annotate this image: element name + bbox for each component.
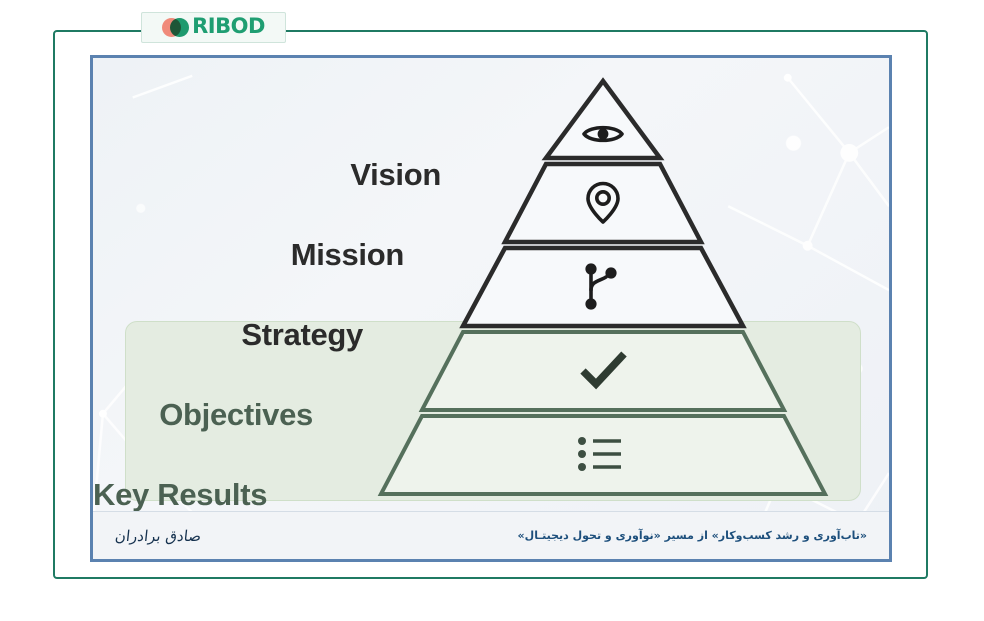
pyramid-label-vision: Vision [93,157,441,193]
slide-footer: صادق برادران «تاب‌آوری و رشد کسب‌وکار» ا… [93,511,889,559]
pyramid-label-strategy: Strategy [93,317,363,353]
pyramid-label-objectives: Objectives [93,397,313,433]
footer-tagline: «تاب‌آوری و رشد کسب‌وکار» از مسیر «نوآور… [518,529,867,542]
slide-panel: Vision Mission Strategy Objectives Key R… [90,55,892,562]
ribod-wordmark: RIBOD [192,16,265,37]
pyramid-label-key-results: Key Results [93,477,261,513]
ribod-mark-icon [162,17,188,39]
ribod-logo[interactable]: RIBOD [141,12,286,43]
author-signature: صادق برادران [114,527,202,545]
pyramid-label-mission: Mission [93,237,404,273]
